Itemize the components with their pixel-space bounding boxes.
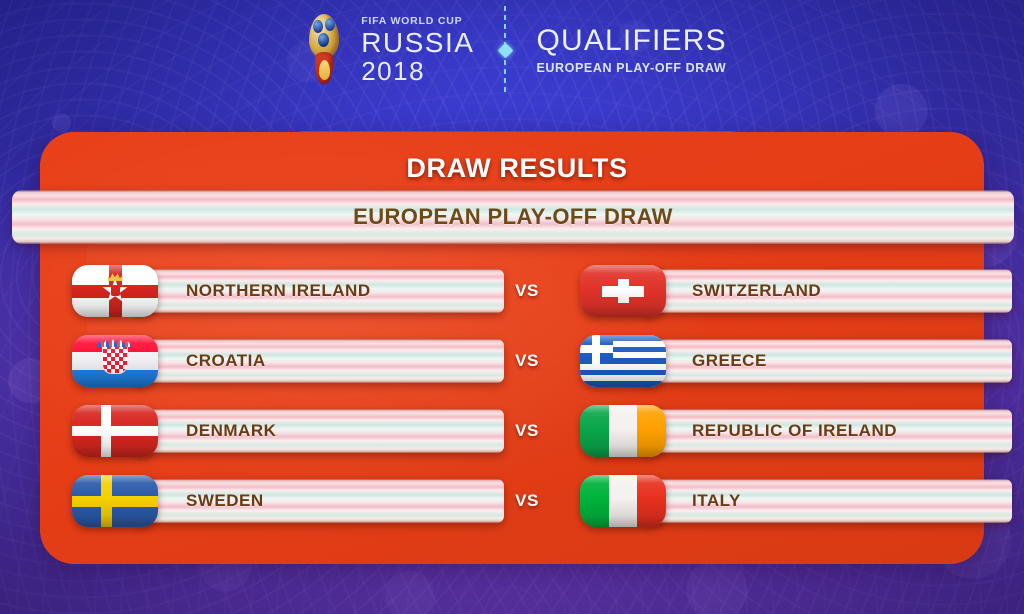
fifa-kicker-text: FIFA WORLD CUP: [361, 16, 474, 27]
match-away-side: ITALY: [580, 475, 1012, 527]
page-title: DRAW RESULTS: [282, 148, 752, 188]
match-row: NORTHERN IRELAND VS SWITZERLAND: [0, 256, 1024, 326]
broadcast-graphic-stage: FIFA WORLD CUP RUSSIA 2018 QUALIFIERS EU…: [0, 0, 1024, 614]
match-row: SWEDEN VS ITALY: [0, 466, 1024, 536]
team-name: SWITZERLAND: [692, 281, 821, 301]
match-home-side: CROATIA: [72, 335, 504, 387]
team-nameplate: DENMARK: [134, 409, 504, 453]
flag-greece-icon: [580, 335, 666, 387]
team-name: NORTHERN IRELAND: [186, 281, 371, 301]
flag-republic-of-ireland-icon: [580, 405, 666, 457]
flag-croatia-icon: [72, 335, 158, 387]
match-away-side: SWITZERLAND: [580, 265, 1012, 317]
team-name: SWEDEN: [186, 491, 264, 511]
team-name: REPUBLIC OF IRELAND: [692, 421, 897, 441]
team-nameplate: NORTHERN IRELAND: [134, 269, 504, 313]
flag-sweden-icon: [72, 475, 158, 527]
team-name: ITALY: [692, 491, 741, 511]
subtitle-bar: EUROPEAN PLAY-OFF DRAW: [12, 190, 1014, 244]
team-nameplate: CROATIA: [134, 339, 504, 383]
header-bar: FIFA WORLD CUP RUSSIA 2018 QUALIFIERS EU…: [0, 0, 1024, 100]
match-home-side: DENMARK: [72, 405, 504, 457]
team-nameplate: ITALY: [642, 479, 1012, 523]
fifa-year-text: 2018: [361, 58, 474, 84]
flag-switzerland-icon: [580, 265, 666, 317]
flag-italy-icon: [580, 475, 666, 527]
vs-label: VS: [504, 351, 550, 371]
match-list: NORTHERN IRELAND VS SWITZERLAND: [0, 256, 1024, 536]
team-nameplate: SWEDEN: [134, 479, 504, 523]
vs-label: VS: [504, 281, 550, 301]
match-away-side: GREECE: [580, 335, 1012, 387]
subtitle-label: EUROPEAN PLAY-OFF DRAW: [353, 204, 673, 230]
fifa-wordmark: FIFA WORLD CUP RUSSIA 2018: [361, 16, 474, 85]
team-nameplate: SWITZERLAND: [642, 269, 1012, 313]
flag-northern-ireland-icon: [72, 265, 158, 317]
qualifiers-title: QUALIFIERS: [536, 26, 726, 56]
header-divider: [490, 6, 520, 94]
fifa-country-text: RUSSIA: [361, 29, 474, 57]
vs-label: VS: [504, 421, 550, 441]
fifa-trophy-icon: [297, 12, 351, 88]
match-row: CROATIA VS GREECE: [0, 326, 1024, 396]
team-nameplate: REPUBLIC OF IRELAND: [642, 409, 1012, 453]
match-home-side: SWEDEN: [72, 475, 504, 527]
team-nameplate: GREECE: [642, 339, 1012, 383]
flag-denmark-icon: [72, 405, 158, 457]
diamond-icon: [498, 42, 514, 58]
team-name: GREECE: [692, 351, 767, 371]
match-home-side: NORTHERN IRELAND: [72, 265, 504, 317]
match-away-side: REPUBLIC OF IRELAND: [580, 405, 1012, 457]
match-row: DENMARK VS REPUBLIC OF IRELAND: [0, 396, 1024, 466]
qualifiers-block: QUALIFIERS EUROPEAN PLAY-OFF DRAW: [536, 26, 726, 75]
qualifiers-subtitle: EUROPEAN PLAY-OFF DRAW: [536, 62, 726, 75]
vs-label: VS: [504, 491, 550, 511]
team-name: CROATIA: [186, 351, 266, 371]
team-name: DENMARK: [186, 421, 276, 441]
